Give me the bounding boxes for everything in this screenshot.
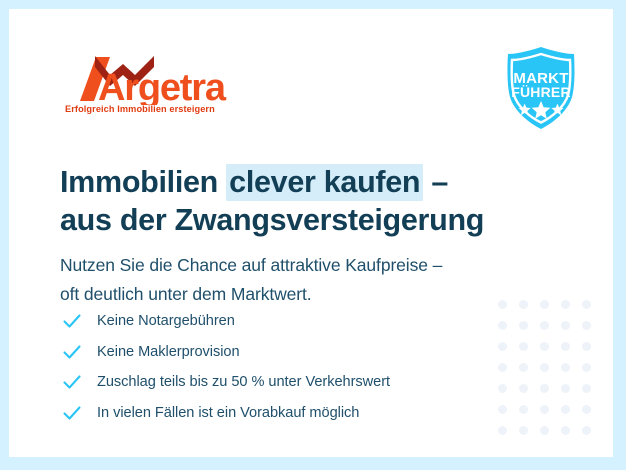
list-item-label: In vielen Fällen ist ein Vorabkauf mögli… <box>97 405 359 421</box>
argetra-roof-mark-icon: Argetra <box>62 53 252 105</box>
headline-text-before: Immobilien <box>60 165 226 199</box>
dot <box>561 426 570 435</box>
benefits-list: Keine Notargebühren Keine Maklerprovisio… <box>62 306 522 428</box>
subtitle-line-2: oft deutlich unter dem Marktwert. <box>60 280 540 309</box>
dot <box>540 426 549 435</box>
dot <box>540 405 549 414</box>
subtitle-line-1: Nutzen Sie die Chance auf attraktive Kau… <box>60 251 540 280</box>
badge-line2: FÜHRER <box>511 84 571 100</box>
page-title: Immobilien clever kaufen – aus der Zwang… <box>60 163 530 239</box>
check-icon <box>62 342 82 362</box>
check-icon <box>62 372 82 392</box>
dot <box>540 300 549 309</box>
dot <box>540 384 549 393</box>
dot <box>582 384 591 393</box>
list-item: Keine Maklerprovision <box>62 337 522 368</box>
check-icon <box>62 311 82 331</box>
list-item-label: Zuschlag teils bis zu 50 % unter Verkehr… <box>97 374 390 390</box>
dot <box>540 342 549 351</box>
dot <box>582 342 591 351</box>
list-item: Zuschlag teils bis zu 50 % unter Verkehr… <box>62 367 522 398</box>
svg-text:Argetra: Argetra <box>98 67 227 105</box>
headline-text-after: – <box>423 165 448 199</box>
dot <box>561 363 570 372</box>
dot <box>561 405 570 414</box>
banner-card: Argetra Erfolgreich Immobilien ersteiger… <box>9 9 613 457</box>
dot <box>582 426 591 435</box>
logo-tagline: Erfolgreich Immobilien ersteigern <box>65 104 215 114</box>
list-item-label: Keine Maklerprovision <box>97 344 240 360</box>
dot <box>561 342 570 351</box>
dot <box>582 300 591 309</box>
headline-line-1: Immobilien clever kaufen – <box>60 163 530 201</box>
dot <box>540 363 549 372</box>
list-item: In vielen Fällen ist ein Vorabkauf mögli… <box>62 398 522 429</box>
headline-highlight: clever kaufen <box>226 164 423 201</box>
dot <box>582 405 591 414</box>
dot <box>561 384 570 393</box>
dot <box>540 321 549 330</box>
dot <box>582 363 591 372</box>
shield-badge-icon: MARKT FÜHRER <box>498 45 584 131</box>
dot <box>561 300 570 309</box>
dot <box>582 321 591 330</box>
headline-line-2: aus der Zwangsversteigerung <box>60 201 530 239</box>
argetra-logo: Argetra Erfolgreich Immobilien ersteiger… <box>62 53 252 123</box>
page-subtitle: Nutzen Sie die Chance auf attraktive Kau… <box>60 251 540 309</box>
promo-banner: Argetra Erfolgreich Immobilien ersteiger… <box>0 0 626 470</box>
dot <box>561 321 570 330</box>
check-icon <box>62 403 82 423</box>
list-item-label: Keine Notargebühren <box>97 313 235 329</box>
list-item: Keine Notargebühren <box>62 306 522 337</box>
